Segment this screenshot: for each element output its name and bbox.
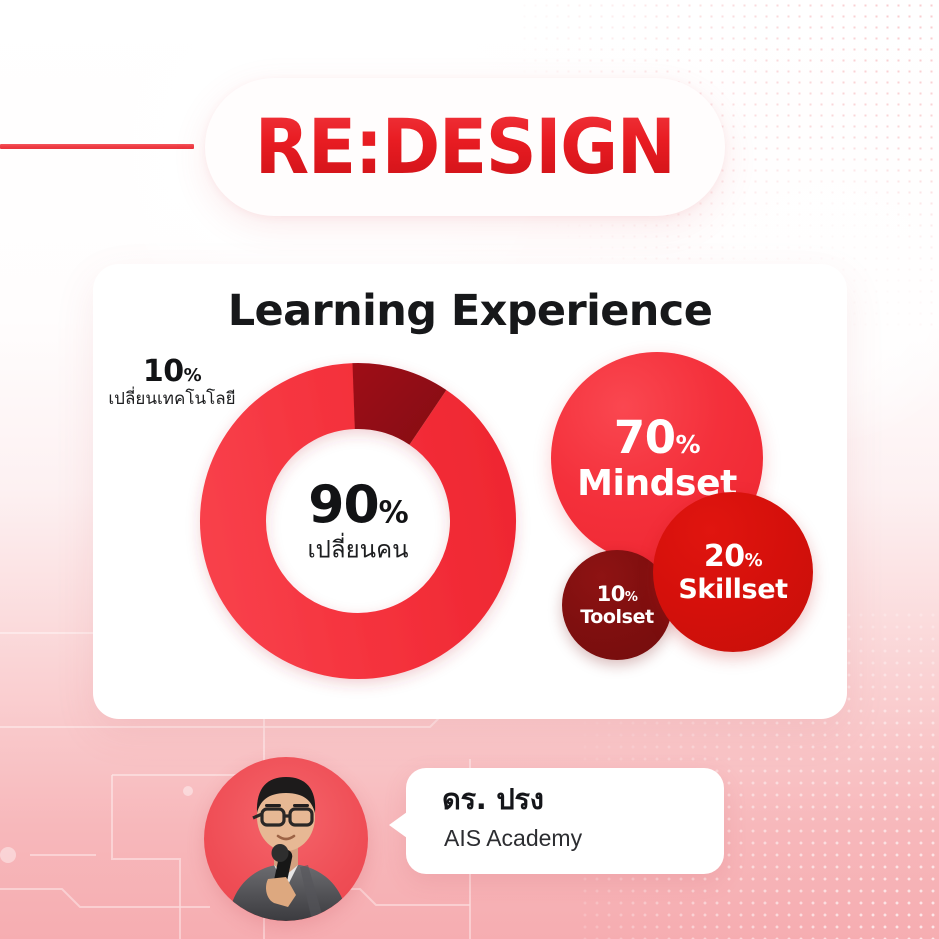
- page-title: Learning Experience: [93, 286, 847, 336]
- title-accent-rule: [0, 144, 194, 149]
- speaker-name: ดร. ปรง: [442, 784, 544, 816]
- speaker-card: ดร. ปรง AIS Academy: [406, 768, 724, 874]
- callout-label: เปลี่ยนเทคโนโลยี: [97, 390, 247, 409]
- speaker-organization: AIS Academy: [444, 826, 582, 851]
- callout-value: 10%: [97, 356, 247, 388]
- donut-callout-technology: 10% เปลี่ยนเทคโนโลยี: [97, 356, 247, 408]
- bubble-skillset-value: 20%: [704, 542, 762, 572]
- bubble-chart: 70% Mindset 20% Skillset 10% Toolset: [533, 352, 833, 682]
- brand-title: RE:DESIGN: [255, 109, 675, 185]
- bubble-skillset-label: Skillset: [678, 576, 787, 603]
- donut-chart: 90% เปลี่ยนคน: [199, 362, 517, 680]
- title-pill: RE:DESIGN: [205, 78, 725, 216]
- infographic-slide: RE:DESIGN Learning Experience: [0, 0, 939, 939]
- bubble-mindset-value: 70%: [614, 415, 700, 460]
- bubble-toolset-value: 10%: [597, 584, 638, 605]
- bubble-skillset: 20% Skillset: [653, 492, 813, 652]
- avatar: [204, 757, 368, 921]
- bubble-toolset-label: Toolset: [580, 608, 654, 627]
- main-content-card: Learning Experience: [93, 264, 847, 719]
